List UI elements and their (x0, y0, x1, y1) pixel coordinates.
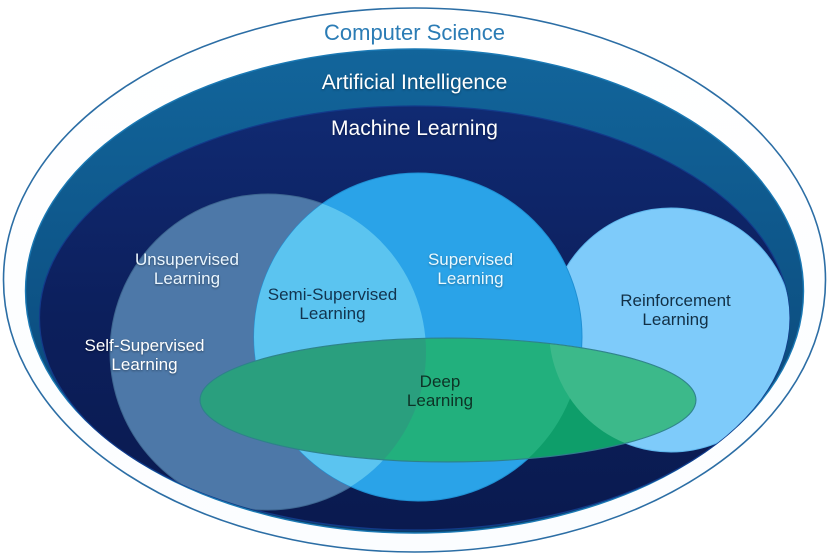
venn-diagram-graphic (0, 0, 829, 558)
diagram-canvas: Computer Science Artificial Intelligence… (0, 0, 829, 558)
